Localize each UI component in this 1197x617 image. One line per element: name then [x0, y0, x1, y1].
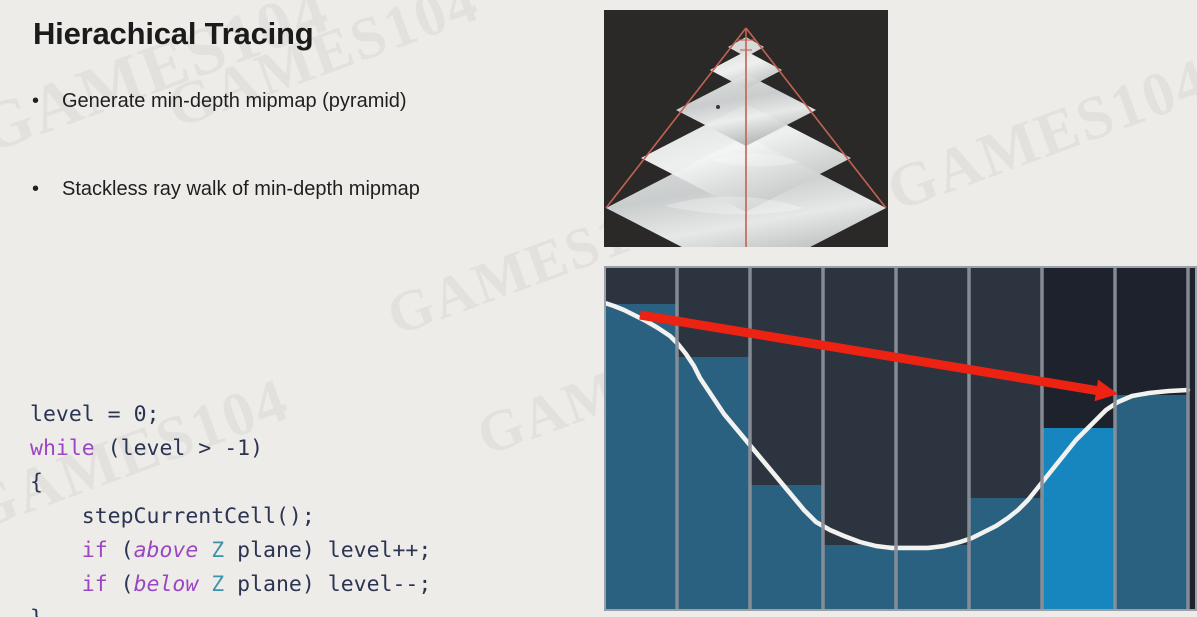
watermark: GAMES104 [878, 45, 1197, 227]
code-line: } [30, 602, 431, 617]
code-line: if (above Z plane) level++; [30, 534, 431, 568]
chart-bar [969, 498, 1042, 611]
code-line: level = 0; [30, 398, 431, 432]
code-token: below [134, 572, 199, 597]
bullet-list: • Generate min-depth mipmap (pyramid) • … [30, 90, 570, 266]
pyramid-svg [604, 10, 888, 247]
bullet-dot-icon: • [30, 178, 62, 200]
mipmap-pyramid-figure [604, 10, 888, 247]
page-title: Hierachical Tracing [33, 16, 314, 52]
list-item: • Stackless ray walk of min-depth mipmap [30, 178, 570, 201]
code-token: stepCurrentCell(); [30, 504, 315, 529]
code-token [30, 538, 82, 563]
code-token: Z [211, 572, 224, 597]
code-token: plane) level--; [224, 572, 431, 597]
bullet-dot-icon: • [30, 90, 62, 112]
chart-bar [823, 545, 896, 611]
code-lines: level = 0;while (level > -1){ stepCurren… [30, 398, 431, 617]
chart-bar-highlighted [1042, 428, 1115, 611]
code-line: { [30, 466, 431, 500]
code-token [30, 572, 82, 597]
code-token [198, 572, 211, 597]
code-token: = [95, 402, 134, 427]
code-token: if [82, 572, 108, 597]
slide-canvas: GAMES104 GAMES104 GAMES104 GAMES104 GAME… [0, 0, 1197, 617]
code-token: ; [147, 402, 160, 427]
list-item-label: Stackless ray walk of min-depth mipmap [62, 178, 420, 201]
code-token: ( [95, 436, 121, 461]
code-token: 0 [134, 402, 147, 427]
chart-bar [750, 485, 823, 611]
code-token: > [185, 436, 224, 461]
chart-bar [896, 545, 969, 611]
code-token: -1 [224, 436, 250, 461]
code-token: while [30, 436, 95, 461]
code-token: level [121, 436, 186, 461]
code-line: while (level > -1) [30, 432, 431, 466]
code-token: Z [211, 538, 224, 563]
pyramid-marker-dot [716, 105, 720, 109]
code-block: level = 0;while (level > -1){ stepCurren… [30, 296, 431, 617]
code-token: plane) level++; [224, 538, 431, 563]
ray-walk-svg [604, 266, 1197, 611]
code-token: ) [250, 436, 263, 461]
code-token: if [82, 538, 108, 563]
chart-bar [1115, 395, 1188, 611]
code-token: ( [108, 572, 134, 597]
chart-bar [604, 304, 677, 611]
slide-left-column: Hierachical Tracing • Generate min-depth… [0, 0, 600, 617]
code-token: level [30, 402, 95, 427]
ray-walk-chart [604, 266, 1197, 611]
code-token: { [30, 470, 43, 495]
code-line: if (below Z plane) level--; [30, 568, 431, 602]
code-token: above [134, 538, 199, 563]
code-line: stepCurrentCell(); [30, 500, 431, 534]
code-token: ( [108, 538, 134, 563]
code-token: } [30, 606, 43, 617]
code-token [198, 538, 211, 563]
list-item: • Generate min-depth mipmap (pyramid) [30, 90, 570, 113]
list-item-label: Generate min-depth mipmap (pyramid) [62, 90, 407, 113]
